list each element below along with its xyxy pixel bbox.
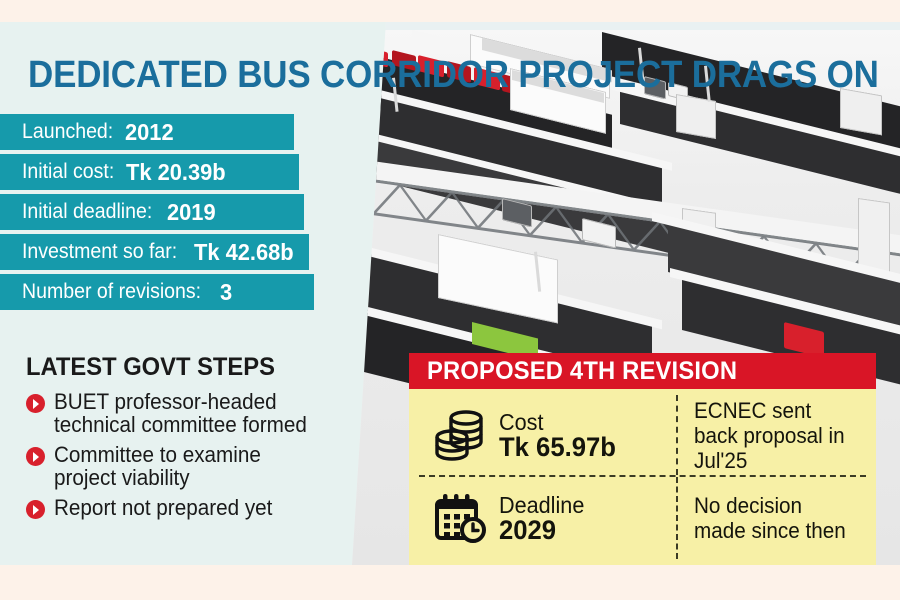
step-text: BUET professor-headed technical committe… [54, 390, 328, 436]
fact-value: 3 [220, 281, 232, 303]
infographic-frame: DEDICATED BUS CORRIDOR PROJECT DRAGS ON … [0, 0, 900, 600]
fact-row: Launched: 2012 [0, 114, 294, 150]
cost-value: Tk 65.97b [499, 435, 616, 460]
panel-row-deadline: Deadline 2029 No decision made since the… [419, 477, 866, 559]
fact-row: Number of revisions: 3 [0, 274, 314, 310]
calendar-clock-icon [431, 487, 489, 549]
coins-stack-icon [431, 404, 489, 466]
fact-label: Initial cost: [22, 161, 114, 183]
panel-cell-deadline-note: No decision made since then [678, 477, 866, 559]
infographic-canvas: DEDICATED BUS CORRIDOR PROJECT DRAGS ON … [0, 22, 900, 565]
fact-label: Investment so far: [22, 241, 177, 263]
bullet-arrow-icon [26, 500, 45, 519]
fact-value: Tk 20.39b [126, 161, 226, 183]
fact-row: Initial deadline: 2019 [0, 194, 304, 230]
deadline-value: 2029 [499, 518, 585, 543]
panel-cell-cost-note: ECNEC sent back proposal in Jul'25 [678, 395, 866, 475]
steps-heading: LATEST GOVT STEPS [26, 354, 330, 381]
bullet-arrow-icon [26, 447, 45, 466]
panel-header: PROPOSED 4TH REVISION [409, 353, 876, 389]
fact-value: Tk 42.68b [194, 241, 294, 263]
list-item: Report not prepared yet [26, 496, 346, 519]
panel-text-cost: Cost Tk 65.97b [499, 410, 622, 460]
step-text: Report not prepared yet [54, 496, 328, 519]
key-facts-list: Launched: 2012 Initial cost: Tk 20.39b I… [0, 114, 350, 314]
fact-label: Number of revisions: [22, 281, 201, 303]
panel-body: Cost Tk 65.97b ECNEC sent back proposal … [409, 389, 876, 565]
list-item: BUET professor-headed technical committe… [26, 390, 346, 436]
list-item: Committee to examine project viability [26, 443, 346, 489]
cost-note: ECNEC sent back proposal in Jul'25 [694, 398, 855, 473]
panel-row-cost: Cost Tk 65.97b ECNEC sent back proposal … [419, 395, 866, 477]
panel-title: PROPOSED 4TH REVISION [427, 358, 737, 384]
panel-text-deadline: Deadline 2029 [499, 493, 590, 543]
latest-govt-steps-section: LATEST GOVT STEPS BUET professor-headed … [26, 354, 346, 526]
fact-value: 2012 [125, 121, 174, 143]
panel-cell-cost: Cost Tk 65.97b [419, 395, 678, 475]
bullet-arrow-icon [26, 394, 45, 413]
fact-row: Initial cost: Tk 20.39b [0, 154, 299, 190]
page-title: DEDICATED BUS CORRIDOR PROJECT DRAGS ON [28, 54, 782, 96]
deadline-note: No decision made since then [694, 493, 855, 543]
panel-cell-deadline: Deadline 2029 [419, 477, 678, 559]
proposed-revision-panel: PROPOSED 4TH REVISION [409, 353, 876, 565]
fact-label: Launched: [22, 121, 113, 143]
step-text: Committee to examine project viability [54, 443, 328, 489]
fact-value: 2019 [167, 201, 216, 223]
fact-row: Investment so far: Tk 42.68b [0, 234, 309, 270]
fact-label: Initial deadline: [22, 201, 152, 223]
